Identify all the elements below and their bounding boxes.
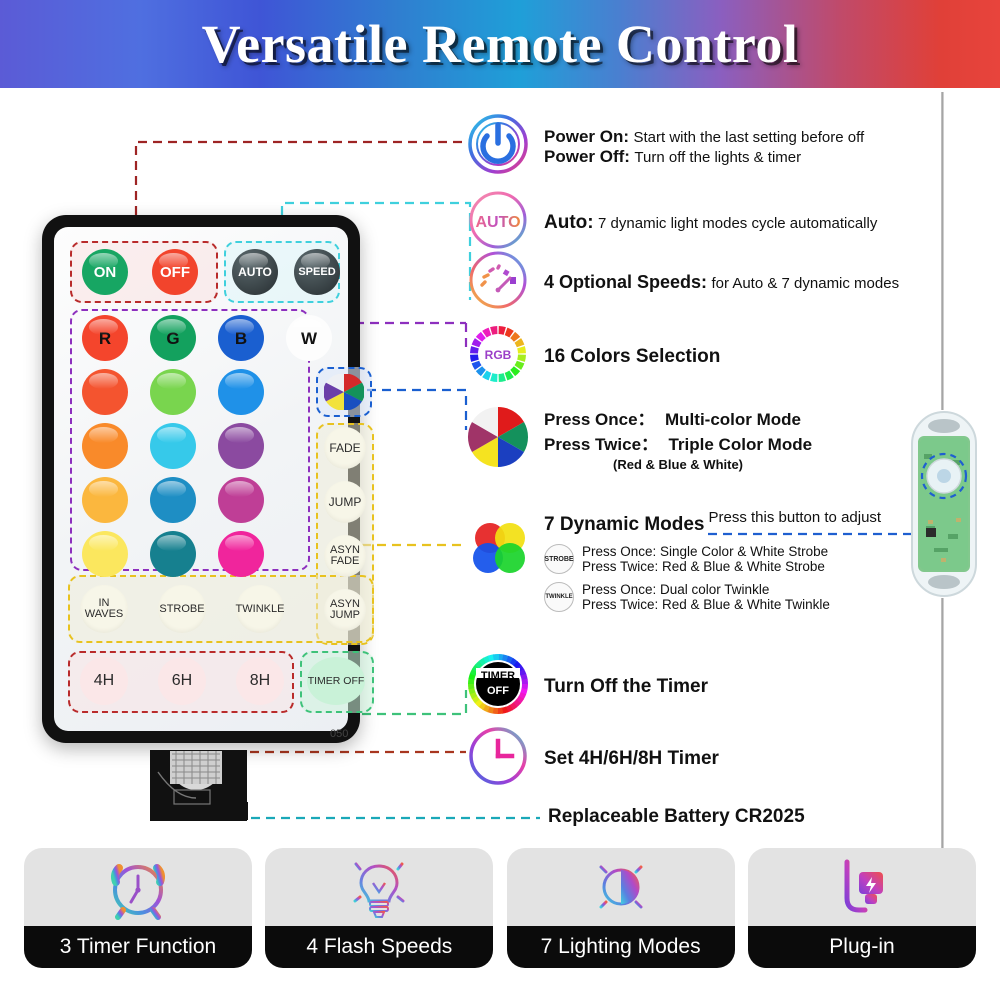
auto-desc: 7 dynamic light modes cycle automaticall… xyxy=(598,215,877,232)
card-timer-label: 3 Timer Function xyxy=(24,926,252,968)
power-plug-icon xyxy=(748,848,976,926)
dynamic-modes-label: 7 Dynamic Modes xyxy=(544,514,705,536)
color-swatch-button[interactable] xyxy=(82,477,128,523)
timer-off-button[interactable]: TIMER OFF xyxy=(307,657,365,705)
remote-control: ON OFF AUTO SPEED R G B W FADE xyxy=(42,215,360,743)
card-lighting-label: 7 Lighting Modes xyxy=(507,926,735,968)
twinkle-button[interactable]: TWINKLE xyxy=(236,585,284,633)
strobe-line-1: Press Once: Single Color & White Strobe xyxy=(582,544,828,559)
color-wheel-button[interactable] xyxy=(324,374,364,410)
color-swatch-button[interactable] xyxy=(82,531,128,577)
svg-text:OFF: OFF xyxy=(487,685,509,697)
feature-dynamic-modes: 7 Dynamic Modes Press this button to adj… xyxy=(466,512,881,612)
colors-label: 16 Colors Selection xyxy=(544,346,720,367)
power-on-label: Power On: xyxy=(544,127,629,146)
strobe-badge-icon: STROBE xyxy=(544,544,574,574)
auto-icon: AUTO xyxy=(466,188,530,257)
off-button[interactable]: OFF xyxy=(152,249,198,295)
svg-text:TIMER: TIMER xyxy=(481,670,515,682)
blue-button[interactable]: B xyxy=(218,315,264,361)
card-flash-speeds[interactable]: 4 Flash Speeds xyxy=(265,848,493,968)
color-swatch-button[interactable] xyxy=(218,531,264,577)
twinkle-badge-icon: TWINKLE xyxy=(544,582,574,612)
press-twice-label: Press Twice： xyxy=(544,435,658,454)
page-title: Versatile Remote Control xyxy=(0,0,1000,88)
clock-icon xyxy=(466,724,530,793)
auto-button[interactable]: AUTO xyxy=(232,249,278,295)
triplecolor-value: Triple Color Mode xyxy=(668,435,812,454)
asyn-fade-button[interactable]: ASYNFADE xyxy=(324,535,366,577)
alarm-clock-icon xyxy=(24,848,252,926)
speed-label: 4 Optional Speeds: xyxy=(544,272,707,292)
feature-colors: RGB 16 Colors Selection xyxy=(466,322,720,391)
color-swatch-button[interactable] xyxy=(218,423,264,469)
feature-speed-text: 4 Optional Speeds: for Auto & 7 dynamic … xyxy=(544,272,899,293)
feature-timer-off: TIMEROFF Turn Off the Timer xyxy=(466,652,708,721)
rgb-wheel-icon: RGB xyxy=(466,322,530,391)
fade-button[interactable]: FADE xyxy=(324,427,366,469)
twinkle-badge-label: TWINKLE xyxy=(545,594,572,600)
color-swatch-button[interactable] xyxy=(82,423,128,469)
speed-desc: for Auto & 7 dynamic modes xyxy=(711,275,899,292)
strobe-button[interactable]: STROBE xyxy=(158,585,206,633)
brightness-icon xyxy=(507,848,735,926)
battery-note: Replaceable Battery CR2025 xyxy=(548,806,805,828)
color-swatch-button[interactable] xyxy=(218,477,264,523)
card-plug-label: Plug-in xyxy=(748,926,976,968)
strobe-badge-label: STROBE xyxy=(544,556,573,563)
power-off-label: Power Off: xyxy=(544,147,630,166)
speed-gauge-icon xyxy=(466,248,530,317)
wire-top xyxy=(941,92,944,410)
strobe-line-2: Press Twice: Red & Blue & White Strobe xyxy=(582,559,828,574)
red-button[interactable]: R xyxy=(82,315,128,361)
feature-set-timer: Set 4H/6H/8H Timer xyxy=(466,724,719,793)
inline-controller xyxy=(908,408,980,600)
rgb-circles-icon xyxy=(466,516,530,585)
battery-compartment xyxy=(150,750,270,828)
set-timer-label: Set 4H/6H/8H Timer xyxy=(544,748,719,769)
feature-power: Power On: Start with the last setting be… xyxy=(466,112,864,181)
multicolor-value: Multi-color Mode xyxy=(665,410,801,429)
feature-timer-off-text: Turn Off the Timer xyxy=(544,676,708,698)
power-off-desc: Turn off the lights & timer xyxy=(634,149,801,166)
in-waves-button[interactable]: INWAVES xyxy=(80,585,128,633)
color-swatch-button[interactable] xyxy=(150,531,196,577)
wire-bottom xyxy=(941,598,944,868)
timer-off-label: Turn Off the Timer xyxy=(544,676,708,697)
timer-4h-button[interactable]: 4H xyxy=(80,657,128,705)
feature-speed: 4 Optional Speeds: for Auto & 7 dynamic … xyxy=(466,248,899,317)
speed-button[interactable]: SPEED xyxy=(294,249,340,295)
feature-cards: 3 Timer Function 4 xyxy=(24,848,976,968)
green-button[interactable]: G xyxy=(150,315,196,361)
on-button[interactable]: ON xyxy=(82,249,128,295)
card-timer-function[interactable]: 3 Timer Function xyxy=(24,848,252,968)
color-swatch-button[interactable] xyxy=(82,369,128,415)
color-swatch-button[interactable] xyxy=(150,477,196,523)
color-swatch-button[interactable] xyxy=(150,423,196,469)
press-button-callout: Press this button to adjust xyxy=(709,509,882,526)
feature-multicolor-text: Press Once： Multi-color Mode Press Twice… xyxy=(544,405,812,474)
timer-off-icon: TIMEROFF xyxy=(466,652,530,721)
feature-set-timer-text: Set 4H/6H/8H Timer xyxy=(544,748,719,770)
auto-label: Auto: xyxy=(544,212,594,233)
timer-6h-button[interactable]: 6H xyxy=(158,657,206,705)
light-bulb-icon xyxy=(265,848,493,926)
feature-auto-text: Auto: 7 dynamic light modes cycle automa… xyxy=(544,212,877,234)
triplecolor-note: (Red & Blue & White) xyxy=(613,457,743,472)
jump-button[interactable]: JUMP xyxy=(324,481,366,523)
twinkle-line-2: Press Twice: Red & Blue & White Twinkle xyxy=(582,597,830,612)
color-swatch-button[interactable] xyxy=(150,369,196,415)
power-on-desc: Start with the last setting before off xyxy=(633,129,864,146)
color-swatch-button[interactable] xyxy=(218,369,264,415)
svg-text:RGB: RGB xyxy=(485,348,512,362)
timer-8h-button[interactable]: 8H xyxy=(236,657,284,705)
twinkle-line-1: Press Once: Dual color Twinkle xyxy=(582,582,830,597)
white-button[interactable]: W xyxy=(286,315,332,361)
remote-face: ON OFF AUTO SPEED R G B W FADE xyxy=(54,227,348,731)
card-lighting-modes[interactable]: 7 Lighting Modes xyxy=(507,848,735,968)
card-plug-in[interactable]: Plug-in xyxy=(748,848,976,968)
color-pie-icon xyxy=(466,405,530,474)
asyn-jump-button[interactable]: ASYNJUMP xyxy=(324,589,366,631)
model-code: 050 xyxy=(330,728,348,740)
feature-multicolor: Press Once： Multi-color Mode Press Twice… xyxy=(466,405,812,474)
feature-power-text: Power On: Start with the last setting be… xyxy=(544,127,864,167)
power-icon xyxy=(466,112,530,181)
auto-glyph: AUTO xyxy=(475,214,520,231)
feature-auto: AUTO Auto: 7 dynamic light modes cycle a… xyxy=(466,188,877,257)
press-once-label: Press Once： xyxy=(544,410,655,429)
card-flash-label: 4 Flash Speeds xyxy=(265,926,493,968)
feature-dynamic-text: 7 Dynamic Modes Press this button to adj… xyxy=(544,514,881,612)
feature-colors-text: 16 Colors Selection xyxy=(544,346,720,368)
